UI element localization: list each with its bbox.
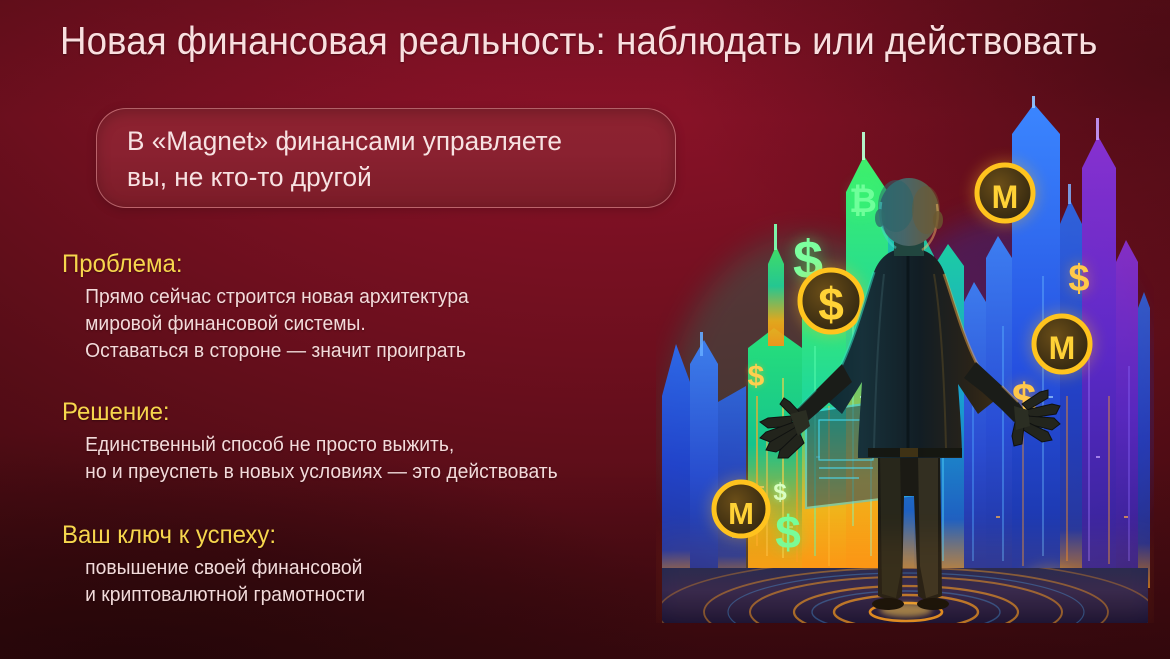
svg-text:M: M <box>728 496 754 531</box>
section-key-to-success: Ваш ключ к успеху: повышение своей финан… <box>62 519 662 609</box>
body-line: но и преуспеть в новых условиях — это де… <box>85 459 641 486</box>
svg-text:$: $ <box>748 360 765 393</box>
slide: Новая финансовая реальность: наблюдать и… <box>0 0 1170 659</box>
body-line: повышение своей финансовой <box>85 555 641 582</box>
svg-text:$: $ <box>1068 258 1089 300</box>
body-line: Оставаться в стороне — значит проиграть <box>85 338 641 365</box>
section-problem-heading: Проблема: <box>62 248 638 280</box>
body-line: и криптовалютной грамотности <box>85 582 641 609</box>
section-problem: Проблема: Прямо сейчас строится новая ар… <box>62 248 662 365</box>
svg-text:₿: ₿ <box>849 182 877 220</box>
body-line: мировой финансовой системы. <box>85 311 641 338</box>
callout-line-2: вы, не кто-то другой <box>127 159 633 195</box>
section-solution: Решение: Единственный способ не просто в… <box>62 396 662 486</box>
cyberpunk-city-illustration: ₿ ₿ $ $ $ $ $ $ $ $ $ $ <box>656 96 1154 623</box>
callout-box: В «Magnet» финансами управляете вы, не к… <box>96 108 676 208</box>
body-line: Единственный способ не просто выжить, <box>85 432 641 459</box>
coin-magnet-top: M <box>972 160 1038 226</box>
coin-magnet-mid: M <box>1029 311 1095 377</box>
section-key-heading: Ваш ключ к успеху: <box>62 519 638 551</box>
page-title: Новая финансовая реальность: наблюдать и… <box>60 18 1075 66</box>
body-line: Прямо сейчас строится новая архитектура <box>85 284 641 311</box>
section-solution-heading: Решение: <box>62 396 638 428</box>
section-problem-body: Прямо сейчас строится новая архитектура … <box>62 284 641 365</box>
section-key-body: повышение своей финансовой и криптовалют… <box>62 555 641 609</box>
svg-text:$: $ <box>773 479 787 506</box>
svg-text:M: M <box>992 179 1019 215</box>
svg-text:$: $ <box>818 278 844 330</box>
callout-line-1: В «Magnet» финансами управляете <box>127 123 633 159</box>
coin-magnet-left: M <box>709 477 773 541</box>
svg-text:M: M <box>1049 330 1076 366</box>
section-solution-body: Единственный способ не просто выжить, но… <box>62 432 641 486</box>
